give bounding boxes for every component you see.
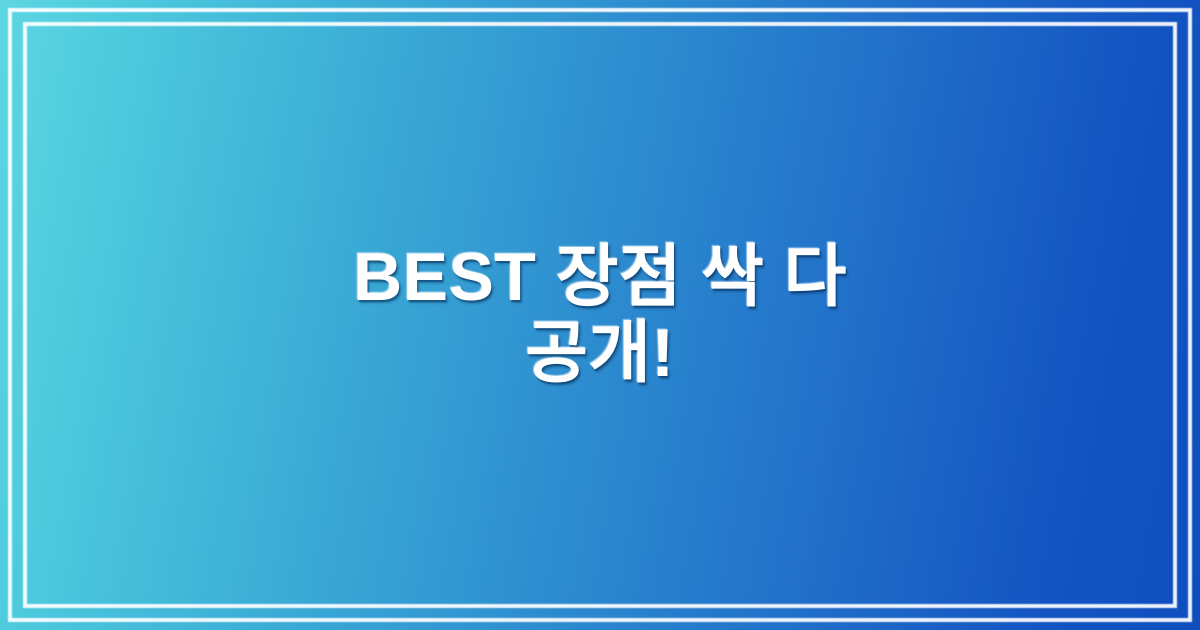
thumbnail-banner: BEST 장점 싹 다 공개! xyxy=(0,0,1200,630)
banner-title-block: BEST 장점 싹 다 공개! xyxy=(0,0,1200,630)
banner-title-line-1: BEST 장점 싹 다 xyxy=(353,239,847,315)
banner-title-line-2: 공개! xyxy=(525,315,674,391)
